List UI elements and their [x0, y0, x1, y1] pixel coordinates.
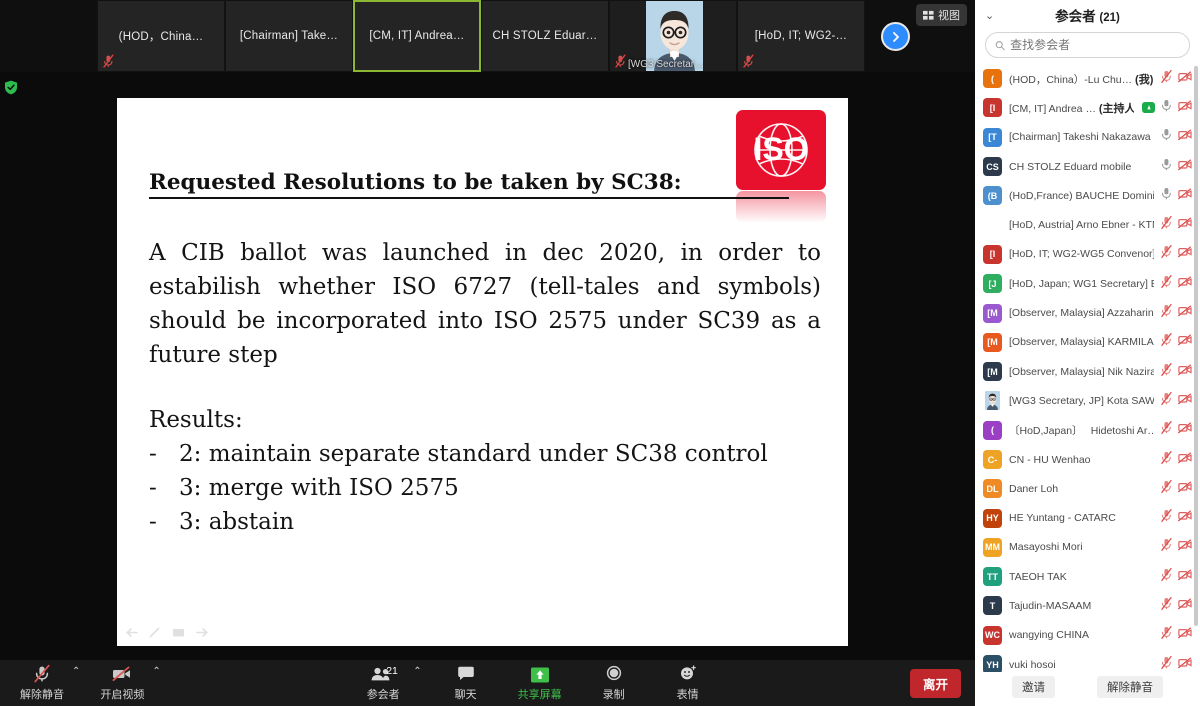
- participant-status-icons: [1161, 597, 1192, 615]
- participant-name: (HOD，China）-Lu Chu… (我): [1009, 71, 1154, 87]
- participant-name: [Observer, Malaysia] KARMILA: [1009, 336, 1154, 348]
- thumbnail-label: [HoD, IT; WG2-…: [751, 30, 851, 42]
- participant-mic-button[interactable]: [1161, 626, 1172, 644]
- participant-status-icons: [1161, 158, 1192, 176]
- participant-mic-button[interactable]: [1161, 538, 1172, 556]
- participant-mic-button[interactable]: [1161, 656, 1172, 672]
- participant-row[interactable]: (〔HoD,Japan〕 Hidetoshi Ar…: [979, 416, 1200, 445]
- mic-on-icon: [1161, 158, 1172, 171]
- participant-avatar: [T: [983, 128, 1002, 147]
- mic-muted-icon: [1161, 568, 1172, 581]
- video-thumbnail[interactable]: CH STOLZ Eduar…: [481, 0, 609, 72]
- participant-mic-button[interactable]: [1161, 216, 1172, 234]
- thumbnail-label: [WG3 Secretar…: [628, 59, 704, 70]
- result-bullet: -: [149, 471, 179, 505]
- participant-mic-button[interactable]: [1161, 597, 1172, 615]
- participant-mic-button[interactable]: [1161, 245, 1172, 263]
- mic-muted-icon: [1161, 421, 1172, 434]
- participant-name: Masayoshi Mori: [1009, 541, 1154, 553]
- participant-row[interactable]: (B(HoD,France) BAUCHE Dominic: [979, 181, 1200, 210]
- participant-row[interactable]: [A[HoD, Austria] Arno Ebner - KTM: [979, 210, 1200, 239]
- participant-name: HE Yuntang - CATARC: [1009, 512, 1154, 524]
- participant-camera-button[interactable]: [1178, 392, 1192, 410]
- participant-avatar: HY: [983, 509, 1002, 528]
- participant-mic-button[interactable]: [1161, 128, 1172, 146]
- avatar-illustration-icon: [983, 391, 1002, 410]
- video-thumbnail[interactable]: [CM, IT] Andrea…: [353, 0, 481, 72]
- participants-search-wrap: [975, 30, 1200, 64]
- participant-status-icons: [1141, 99, 1192, 117]
- participant-row[interactable]: C-CN - HU Wenhao: [979, 445, 1200, 474]
- participant-status-icons: [1161, 509, 1192, 527]
- video-off-icon: [111, 664, 133, 684]
- filmstrip-left-pad: [0, 0, 97, 72]
- camera-off-icon: [1178, 539, 1192, 551]
- participant-camera-button[interactable]: [1178, 597, 1192, 615]
- participant-camera-button[interactable]: [1178, 509, 1192, 527]
- result-item: -2: maintain separate standard under SC3…: [149, 437, 821, 471]
- participant-row[interactable]: WCwangying CHINA: [979, 621, 1200, 650]
- participant-tag: (主持人): [1099, 103, 1134, 115]
- participants-search-box[interactable]: [985, 32, 1190, 58]
- chat-button[interactable]: 聊天: [438, 660, 494, 706]
- participants-panel-title: 参会者 (21): [1055, 5, 1120, 25]
- participant-row[interactable]: DLDaner Loh: [979, 474, 1200, 503]
- participant-avatar: [M: [983, 304, 1002, 323]
- participant-status-icons: [1161, 333, 1192, 351]
- participants-count: 21: [386, 665, 398, 677]
- participant-avatar: [A: [983, 216, 1002, 235]
- mic-muted-icon: [1161, 626, 1172, 639]
- search-input[interactable]: [1010, 38, 1180, 52]
- participant-name: [WG3 Secretary, JP] Kota SAWA…: [1009, 395, 1154, 407]
- slide-results-block: Results: -2: maintain separate standard …: [149, 403, 821, 539]
- participant-avatar: [983, 391, 1002, 410]
- participant-name: Tajudin-MASAAM: [1009, 600, 1154, 612]
- thumbnail-label: (HOD，China…: [115, 28, 208, 44]
- mic-muted-icon: [1161, 392, 1172, 405]
- participant-name: CN - HU Wenhao: [1009, 454, 1154, 466]
- reactions-button-label: 表情: [677, 686, 699, 702]
- camera-off-icon: [1178, 510, 1192, 522]
- participant-avatar: [M: [983, 362, 1002, 381]
- emoji-icon: [678, 664, 698, 684]
- chevron-right-icon: [890, 31, 902, 43]
- participant-mic-button[interactable]: [1161, 451, 1172, 469]
- participant-camera-button[interactable]: [1178, 99, 1192, 117]
- zoom-meeting-window: (HOD，China…[Chairman] Take…[CM, IT] Andr…: [0, 0, 1200, 706]
- filmstrip-right-area: 视图: [865, 0, 975, 72]
- participant-camera-button[interactable]: [1178, 216, 1192, 234]
- participant-name: [Observer, Malaysia] Azzaharin …: [1009, 307, 1154, 319]
- participant-name: Daner Loh: [1009, 483, 1154, 495]
- participant-status-icons: [1161, 128, 1192, 146]
- participant-status-icons: [1161, 392, 1192, 410]
- result-bullet: -: [149, 437, 179, 471]
- participant-mic-button[interactable]: [1161, 333, 1172, 351]
- chat-button-label: 聊天: [455, 686, 477, 702]
- participant-name: [HoD, IT; WG2-WG5 Convenor] …: [1009, 248, 1154, 260]
- participant-row[interactable]: TTajudin-MASAAM: [979, 591, 1200, 620]
- participant-row[interactable]: HYHE Yuntang - CATARC: [979, 503, 1200, 532]
- participant-camera-button[interactable]: [1178, 187, 1192, 205]
- participant-camera-button[interactable]: [1178, 333, 1192, 351]
- camera-off-icon: [1178, 364, 1192, 376]
- mic-muted-icon: [1161, 216, 1172, 229]
- camera-off-icon: [1178, 334, 1192, 346]
- participant-row[interactable]: ((HOD，China）-Lu Chu… (我): [979, 64, 1200, 93]
- participant-row[interactable]: [M[Observer, Malaysia] Azzaharin …: [979, 298, 1200, 327]
- video-thumbnail[interactable]: [HoD, IT; WG2-…: [737, 0, 865, 72]
- shield-check-icon: [4, 80, 18, 95]
- thumbnail-mic-muted: [103, 54, 114, 68]
- result-item: -3: merge with ISO 2575: [149, 471, 821, 505]
- video-thumbnail[interactable]: [WG3 Secretar…: [609, 0, 737, 72]
- mic-muted-icon: [1161, 509, 1172, 522]
- mic-muted-icon: [1161, 275, 1172, 288]
- mute-button[interactable]: 解除静音: [14, 660, 70, 706]
- mic-muted-icon: [615, 54, 626, 68]
- participants-button[interactable]: 21 参会者: [355, 660, 411, 706]
- record-button[interactable]: 录制: [586, 660, 642, 706]
- participants-scrollbar[interactable]: [1194, 66, 1198, 626]
- unmute-all-button[interactable]: 解除静音: [1097, 676, 1163, 698]
- results-heading: Results:: [149, 403, 821, 437]
- participant-name: CH STOLZ Eduard mobile: [1009, 161, 1154, 173]
- participant-mic-button[interactable]: [1161, 568, 1172, 586]
- participant-name: (HoD,France) BAUCHE Dominic: [1009, 190, 1154, 202]
- notes-icon[interactable]: [172, 627, 185, 638]
- camera-off-icon: [1178, 627, 1192, 639]
- participant-avatar: [I: [983, 245, 1002, 264]
- participant-avatar: WC: [983, 626, 1002, 645]
- thumbnail-label: [Chairman] Take…: [236, 30, 342, 42]
- mic-muted-icon: [1161, 597, 1172, 610]
- participant-mic-button[interactable]: [1161, 363, 1172, 381]
- mic-muted-icon: [1161, 363, 1172, 376]
- participant-avatar: T: [983, 596, 1002, 615]
- host-badge-icon: [1142, 102, 1155, 113]
- chat-bubble-icon: [456, 664, 476, 684]
- participant-name: [HoD, Japan; WG1 Secretary] Er…: [1009, 278, 1154, 290]
- grid-view-icon: [923, 10, 934, 21]
- participant-camera-button[interactable]: [1178, 304, 1192, 322]
- participant-avatar: C-: [983, 450, 1002, 469]
- video-options-caret[interactable]: ⌃: [152, 666, 160, 677]
- participant-camera-button[interactable]: [1178, 421, 1192, 439]
- participant-mic-button[interactable]: [1161, 392, 1172, 410]
- camera-off-icon: [1178, 188, 1192, 200]
- participant-status-icons: [1161, 363, 1192, 381]
- camera-off-icon: [1178, 657, 1192, 669]
- participants-panel: ⌄ 参会者 (21) ((HOD，China）-Lu Chu… (我)[I[CM…: [975, 0, 1200, 706]
- camera-off-icon: [1178, 246, 1192, 258]
- meeting-stage: (HOD，China…[Chairman] Take…[CM, IT] Andr…: [0, 0, 975, 706]
- participants-options-caret[interactable]: ⌃: [413, 666, 421, 677]
- record-circle-icon: [604, 664, 624, 684]
- result-item: -3: abstain: [149, 505, 821, 539]
- mic-muted-icon: [103, 54, 114, 68]
- participant-avatar: TT: [983, 567, 1002, 586]
- mic-muted-icon: [1161, 538, 1172, 551]
- camera-off-icon: [1178, 217, 1192, 229]
- participant-status-icons: [1161, 480, 1192, 498]
- shared-screen-slide[interactable]: ISO Requested Resolutions to be taken by…: [117, 98, 848, 646]
- mic-muted-icon: [1161, 451, 1172, 464]
- participant-row[interactable]: [WG3 Secretary, JP] Kota SAWA…: [979, 386, 1200, 415]
- participant-mic-button[interactable]: [1161, 480, 1172, 498]
- participant-avatar: [M: [983, 333, 1002, 352]
- mic-on-icon: [1161, 99, 1172, 112]
- participant-avatar: (: [983, 69, 1002, 88]
- camera-off-icon: [1178, 100, 1192, 112]
- camera-off-icon: [1178, 276, 1192, 288]
- invite-button[interactable]: 邀请: [1012, 676, 1055, 698]
- participant-mic-button[interactable]: [1161, 187, 1172, 205]
- record-button-label: 录制: [603, 686, 625, 702]
- reactions-button[interactable]: 表情: [660, 660, 716, 706]
- iso-logo: ISO: [736, 110, 826, 223]
- participant-camera-button[interactable]: [1178, 70, 1192, 88]
- thumbnail-mic-muted: [615, 54, 626, 68]
- participant-status-icons: [1161, 626, 1192, 644]
- participant-name: wangying CHINA: [1009, 629, 1154, 641]
- mic-on-icon: [1161, 128, 1172, 141]
- participant-camera-button[interactable]: [1178, 568, 1192, 586]
- mic-muted-icon: [1161, 70, 1172, 83]
- slide-title: Requested Resolutions to be taken by SC3…: [149, 170, 789, 199]
- video-thumbnail[interactable]: (HOD，China…: [97, 0, 225, 72]
- participant-avatar: (B: [983, 186, 1002, 205]
- prev-slide-icon[interactable]: [125, 627, 138, 638]
- participant-row[interactable]: [I[CM, IT] Andrea … (主持人): [979, 93, 1200, 122]
- mic-on-icon: [1161, 187, 1172, 200]
- participant-camera-button[interactable]: [1178, 245, 1192, 263]
- mute-options-caret[interactable]: ⌃: [72, 666, 80, 677]
- participant-status-icons: [1161, 245, 1192, 263]
- camera-off-icon: [1178, 305, 1192, 317]
- participant-avatar: YH: [983, 655, 1002, 672]
- next-slide-icon[interactable]: [196, 627, 209, 638]
- camera-off-icon: [1178, 159, 1192, 171]
- camera-off-icon: [1178, 569, 1192, 581]
- participants-panel-header: ⌄ 参会者 (21): [975, 0, 1200, 30]
- participant-status-icons: [1161, 216, 1192, 234]
- participant-avatar: [J: [983, 274, 1002, 293]
- camera-off-icon: [1178, 393, 1192, 405]
- leave-meeting-button[interactable]: 离开: [910, 669, 961, 698]
- participants-list[interactable]: ((HOD，China）-Lu Chu… (我)[I[CM, IT] Andre…: [975, 64, 1200, 672]
- camera-off-icon: [1178, 452, 1192, 464]
- participant-camera-button[interactable]: [1178, 451, 1192, 469]
- video-filmstrip: (HOD，China…[Chairman] Take…[CM, IT] Andr…: [0, 0, 975, 72]
- participant-camera-button[interactable]: [1178, 158, 1192, 176]
- participant-status-icons: [1161, 656, 1192, 672]
- participant-name: [CM, IT] Andrea … (主持人): [1009, 100, 1134, 116]
- mic-muted-icon: [1161, 245, 1172, 258]
- participant-status-icons: [1161, 451, 1192, 469]
- result-text: 3: merge with ISO 2575: [179, 471, 459, 505]
- participant-camera-button[interactable]: [1178, 275, 1192, 293]
- mic-muted-icon: [1161, 333, 1172, 346]
- panel-participant-count: (21): [1099, 12, 1119, 24]
- participant-status-icons: [1161, 275, 1192, 293]
- participant-avatar: MM: [983, 538, 1002, 557]
- participant-camera-button[interactable]: [1178, 480, 1192, 498]
- participants-button-label: 参会者: [367, 686, 400, 702]
- share-screen-button-label: 共享屏幕: [518, 686, 562, 702]
- participant-name: 〔HoD,Japan〕 Hidetoshi Ar…: [1009, 423, 1154, 438]
- result-bullet: -: [149, 505, 179, 539]
- participant-row[interactable]: MMMasayoshi Mori: [979, 533, 1200, 562]
- results-list: -2: maintain separate standard under SC3…: [149, 437, 821, 539]
- participant-camera-button[interactable]: [1178, 626, 1192, 644]
- participant-name: [Observer, Malaysia] Nik Nazira: [1009, 366, 1154, 378]
- mic-muted-icon: [1161, 480, 1172, 493]
- view-button-label: 视图: [938, 7, 960, 23]
- camera-off-icon: [1178, 129, 1192, 141]
- participant-status-icons: [1161, 538, 1192, 556]
- thumbnail-label: CH STOLZ Eduar…: [488, 30, 601, 42]
- camera-off-icon: [1178, 71, 1192, 83]
- participant-mic-button[interactable]: [1161, 421, 1172, 439]
- result-text: 3: abstain: [179, 505, 294, 539]
- participant-avatar: DL: [983, 479, 1002, 498]
- mic-muted-icon: [743, 54, 754, 68]
- presentation-controls[interactable]: [125, 627, 209, 638]
- thumbnail-label: [CM, IT] Andrea…: [365, 30, 468, 42]
- participant-mic-button[interactable]: [1161, 509, 1172, 527]
- meeting-toolbar: 解除静音 ⌃ 开启视频 ⌃: [0, 660, 975, 706]
- video-thumbnail[interactable]: [Chairman] Take…: [225, 0, 353, 72]
- filmstrip-next-button[interactable]: [881, 22, 910, 51]
- participant-camera-button[interactable]: [1178, 538, 1192, 556]
- mute-button-label: 解除静音: [20, 686, 64, 702]
- participant-camera-button[interactable]: [1178, 128, 1192, 146]
- participant-tag: (我): [1135, 74, 1153, 86]
- participant-row[interactable]: [I[HoD, IT; WG2-WG5 Convenor] …: [979, 240, 1200, 269]
- participant-status-icons: [1161, 304, 1192, 322]
- participant-mic-button[interactable]: [1161, 304, 1172, 322]
- participant-camera-button[interactable]: [1178, 656, 1192, 672]
- thumbnail-mic-muted: [743, 54, 754, 68]
- share-screen-button[interactable]: 共享屏幕: [512, 660, 568, 706]
- share-screen-icon: [527, 664, 553, 684]
- video-button[interactable]: 开启视频: [94, 660, 150, 706]
- panel-title-text: 参会者: [1055, 9, 1096, 24]
- pen-icon[interactable]: [149, 627, 161, 638]
- participant-row[interactable]: CSCH STOLZ Eduard mobile: [979, 152, 1200, 181]
- participant-name: [Chairman] Takeshi Nakazawa: [1009, 131, 1154, 143]
- participant-mic-button[interactable]: [1161, 70, 1172, 88]
- participant-status-icons: [1161, 70, 1192, 88]
- mic-off-icon: [32, 664, 52, 684]
- participant-status-icons: [1161, 421, 1192, 439]
- participant-row[interactable]: [T[Chairman] Takeshi Nakazawa: [979, 123, 1200, 152]
- participant-name: vuki hosoi: [1009, 659, 1154, 671]
- slide-body-text: A CIB ballot was launched in dec 2020, i…: [149, 236, 821, 372]
- participant-camera-button[interactable]: [1178, 363, 1192, 381]
- participant-name: TAEOH TAK: [1009, 571, 1154, 583]
- participant-row[interactable]: TTTAEOH TAK: [979, 562, 1200, 591]
- panel-collapse-caret[interactable]: ⌄: [985, 9, 994, 22]
- participants-panel-footer: 邀请 解除静音: [975, 672, 1200, 706]
- participant-row[interactable]: [M[Observer, Malaysia] KARMILA: [979, 328, 1200, 357]
- video-button-label: 开启视频: [100, 686, 144, 702]
- camera-off-icon: [1178, 481, 1192, 493]
- participant-status-icons: [1161, 187, 1192, 205]
- participant-row[interactable]: [J[HoD, Japan; WG1 Secretary] Er…: [979, 269, 1200, 298]
- participant-row[interactable]: YHvuki hosoi: [979, 650, 1200, 672]
- participant-avatar: (: [983, 421, 1002, 440]
- search-icon: [995, 40, 1005, 51]
- participant-mic-button[interactable]: [1161, 158, 1172, 176]
- participant-name: [HoD, Austria] Arno Ebner - KTM: [1009, 219, 1154, 231]
- participant-mic-button[interactable]: [1161, 99, 1172, 117]
- camera-off-icon: [1178, 422, 1192, 434]
- camera-off-icon: [1178, 598, 1192, 610]
- participant-status-icons: [1161, 568, 1192, 586]
- thumbnail-list: (HOD，China…[Chairman] Take…[CM, IT] Andr…: [97, 0, 865, 72]
- view-button[interactable]: 视图: [916, 4, 967, 26]
- iso-logo-text: ISO: [753, 131, 808, 167]
- participant-mic-button[interactable]: [1161, 275, 1172, 293]
- result-text: 2: maintain separate standard under SC38…: [179, 437, 768, 471]
- participant-avatar: [I: [983, 98, 1002, 117]
- mic-muted-icon: [1161, 304, 1172, 317]
- encryption-shield-badge[interactable]: [4, 80, 18, 95]
- participant-row[interactable]: [M[Observer, Malaysia] Nik Nazira: [979, 357, 1200, 386]
- mic-muted-icon: [1161, 656, 1172, 669]
- participant-avatar: CS: [983, 157, 1002, 176]
